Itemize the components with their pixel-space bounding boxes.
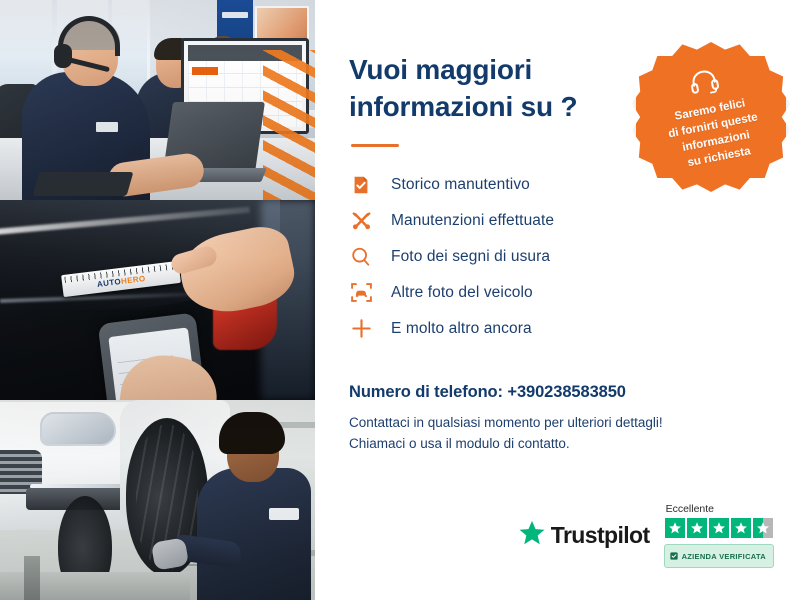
monitor-accent xyxy=(192,67,218,75)
star-filled-3 xyxy=(709,518,729,538)
list-item-label: Altre foto del veicolo xyxy=(391,284,533,302)
list-item-label: Foto dei segni di usura xyxy=(391,248,550,266)
call-center-agents-photo xyxy=(0,0,315,200)
list-item: Altre foto del veicolo xyxy=(349,275,766,311)
photo-column: AUTOHERO xyxy=(0,0,315,600)
mechanic-logo-badge xyxy=(269,508,299,520)
ruler-brand-part-1: AUTO xyxy=(97,277,122,289)
star-filled-2 xyxy=(687,518,707,538)
contact-description: Contattaci in qualsiasi momento per ulte… xyxy=(349,413,766,455)
trustpilot-wordmark: Trustpilot xyxy=(551,522,650,549)
phone-number-line[interactable]: Numero di telefono: +390238583850 xyxy=(349,383,766,402)
mechanic-body xyxy=(197,468,311,600)
promo-page: AUTOHERO xyxy=(0,0,800,600)
rating-stars xyxy=(665,518,773,538)
verified-check-icon xyxy=(670,547,678,565)
star-filled-4 xyxy=(731,518,751,538)
feature-list: Storico manutentivo Manutenzi xyxy=(349,167,766,347)
car-scan-icon xyxy=(349,281,373,305)
orange-rack-decor xyxy=(263,50,315,200)
trustpilot-star-icon xyxy=(518,519,546,552)
workshop-wheel-check-photo xyxy=(0,400,315,600)
agent-a-badge xyxy=(96,122,118,132)
badge-content: Saremo felici di fornirti queste informa… xyxy=(657,60,765,174)
list-item: Foto dei segni di usura xyxy=(349,239,766,275)
ruler-brand-part-2: HERO xyxy=(120,274,146,286)
contact-line-1: Contattaci in qualsiasi momento per ulte… xyxy=(349,413,766,434)
star-half-5 xyxy=(753,518,773,538)
list-item-label: Storico manutentivo xyxy=(391,176,530,194)
plus-icon xyxy=(349,317,373,341)
star-filled-1 xyxy=(665,518,685,538)
mechanic-hair xyxy=(219,412,285,454)
list-item-label: Manutenzioni effettuate xyxy=(391,212,554,230)
vehicle-inspection-photo: AUTOHERO xyxy=(0,200,315,400)
trustpilot-widget[interactable]: Trustpilot Eccellente xyxy=(518,503,774,568)
tools-icon xyxy=(349,209,373,233)
rating-label: Eccellente xyxy=(666,503,714,515)
car-headlight xyxy=(40,412,116,446)
title-underline-divider xyxy=(351,144,399,147)
verified-badge-label: AZIENDA VERIFICATA xyxy=(682,552,766,561)
vehicle-lift-post xyxy=(24,556,40,600)
contact-block: Numero di telefono: +390238583850 Contat… xyxy=(349,383,766,455)
trustpilot-rating-group: Eccellente xyxy=(664,503,774,568)
desk-tablet xyxy=(33,172,134,196)
contact-line-2: Chiamaci o usa il modulo di contatto. xyxy=(349,434,766,455)
verified-company-badge: AZIENDA VERIFICATA xyxy=(664,544,774,568)
headset-earcup xyxy=(54,44,72,68)
page-title: Vuoi maggiori informazioni su ? xyxy=(349,52,619,126)
list-item: E molto altro ancora xyxy=(349,311,766,347)
list-item-label: E molto altro ancora xyxy=(391,320,532,338)
magnifier-icon xyxy=(349,245,373,269)
list-item: Manutenzioni effettuate xyxy=(349,203,766,239)
support-starburst-badge: Saremo felici di fornirti queste informa… xyxy=(636,42,786,192)
trustpilot-logo: Trustpilot xyxy=(518,519,650,552)
content-panel: Vuoi maggiori informazioni su ? Storico … xyxy=(315,0,800,600)
checklist-icon xyxy=(349,173,373,197)
